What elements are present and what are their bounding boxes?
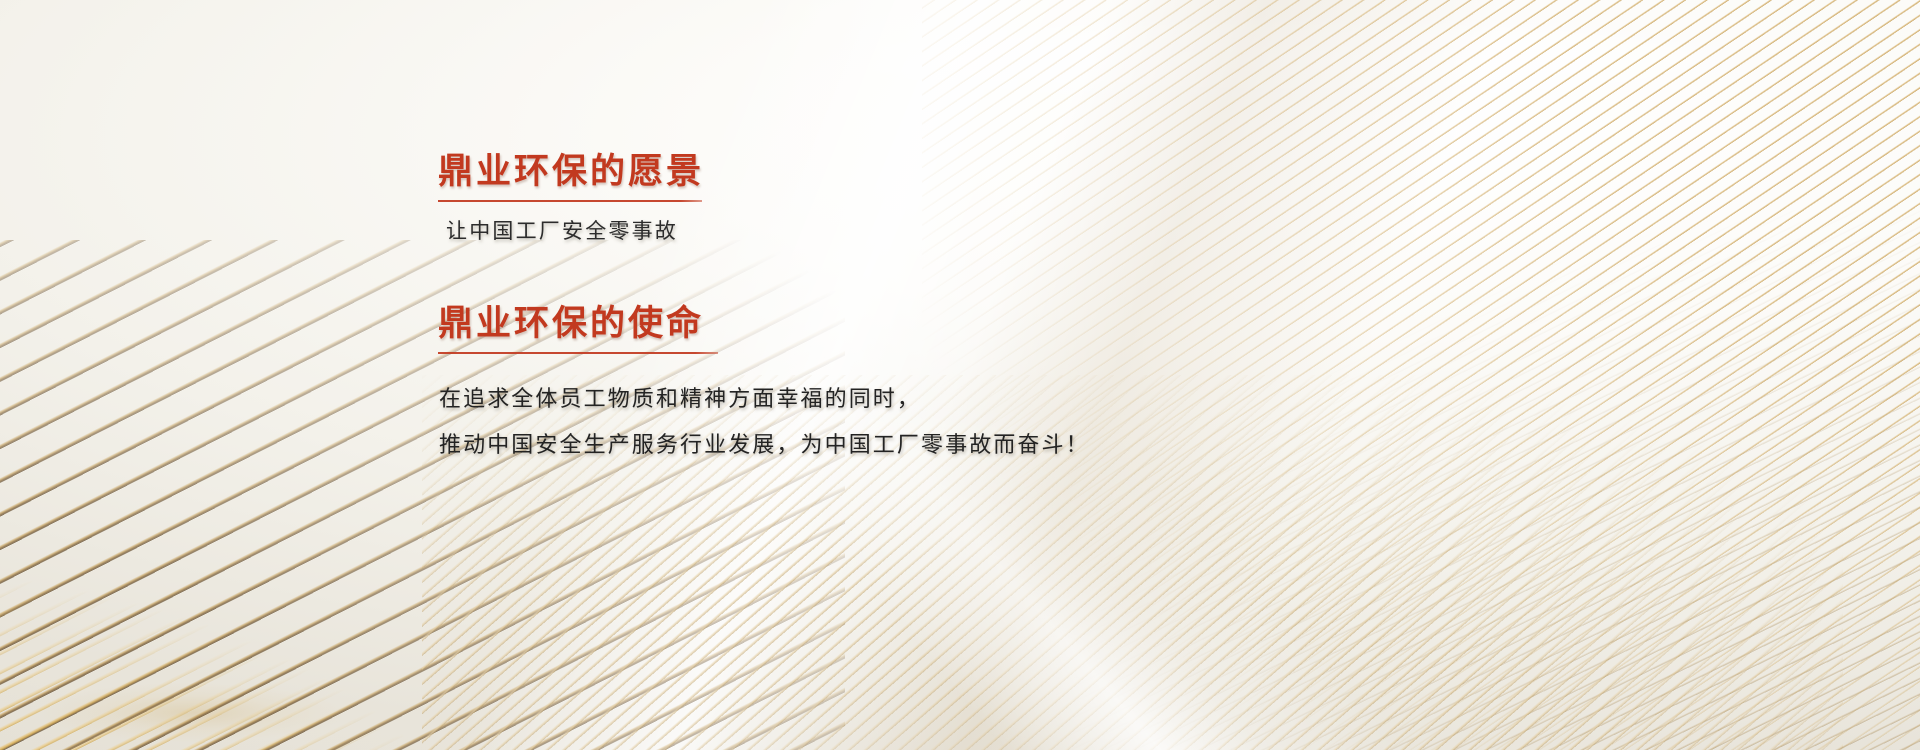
gold-highlight-lines-bottom-left — [0, 465, 499, 750]
mission-heading: 鼎业环保的使命 — [438, 304, 704, 343]
vision-block: 鼎业环保的愿景 让中国工厂安全零事故 — [438, 152, 1538, 248]
vision-subtitle: 让中国工厂安全零事故 — [446, 216, 1538, 248]
mission-block: 鼎业环保的使命 在追求全体员工物质和精神方面幸福的同时， 推动中国安全生产服务行… — [438, 304, 1538, 468]
vision-heading: 鼎业环保的愿景 — [438, 152, 704, 191]
vision-mission-banner: 鼎业环保的愿景 让中国工厂安全零事故 鼎业环保的使命 在追求全体员工物质和精神方… — [0, 0, 1920, 750]
mission-heading-underline — [438, 352, 718, 354]
mission-body: 在追求全体员工物质和精神方面幸福的同时， 推动中国安全生产服务行业发展，为中国工… — [439, 376, 1538, 468]
banner-content: 鼎业环保的愿景 让中国工厂安全零事故 鼎业环保的使命 在追求全体员工物质和精神方… — [438, 152, 1538, 468]
mission-body-line: 推动中国安全生产服务行业发展，为中国工厂零事故而奋斗！ — [439, 422, 1538, 468]
mission-body-line: 在追求全体员工物质和精神方面幸福的同时， — [439, 376, 1538, 422]
vision-heading-underline — [438, 200, 702, 202]
